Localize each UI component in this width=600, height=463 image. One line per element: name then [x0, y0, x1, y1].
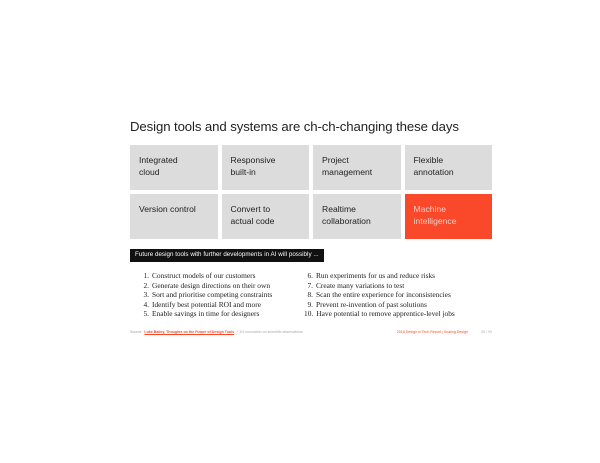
list-item-number: 7.	[304, 281, 313, 291]
list-item-text: Enable savings in time for designers	[152, 309, 259, 319]
card-line-2: actual code	[231, 216, 301, 228]
list-item-text: Run experiments for us and reduce risks	[316, 271, 435, 281]
card-line-1: Machine	[414, 204, 484, 216]
list-item: 6. Run experiments for us and reduce ris…	[304, 271, 492, 281]
slide-footer: Source: Luke Bailey, Thoughts on the Fut…	[130, 330, 492, 335]
capability-card[interactable]: Realtime collaboration	[313, 194, 401, 239]
list-item-number: 9.	[304, 300, 313, 310]
capability-card[interactable]: Convert to actual code	[222, 194, 310, 239]
source-label: Source:	[130, 330, 142, 335]
list-item-text: Have potential to remove apprentice-leve…	[316, 309, 455, 319]
list-item: 9. Prevent re-invention of past solution…	[304, 300, 492, 310]
card-line-1: Convert to	[231, 204, 301, 216]
card-line-2: annotation	[414, 167, 484, 179]
list-item-text: Identify best potential ROI and more	[152, 300, 261, 310]
source-note: + 3/4 innovation on scientific observati…	[236, 330, 303, 335]
list-item: 7. Create many variations to test	[304, 281, 492, 291]
list-item: 1. Construct models of our customers	[140, 271, 302, 281]
card-line-2: built-in	[231, 167, 301, 179]
list-item-text: Scan the entire experience for inconsist…	[316, 290, 451, 300]
card-line-1: Flexible	[414, 155, 484, 167]
predictions-lists: 1. Construct models of our customers 2. …	[130, 271, 492, 319]
deck-name: 2018 Design in Tech Report | Scaling Des…	[397, 330, 468, 335]
card-line-1: Project	[322, 155, 392, 167]
list-item: 8. Scan the entire experience for incons…	[304, 290, 492, 300]
capability-card[interactable]: Version control	[130, 194, 218, 239]
section-banner: Future design tools with further develop…	[130, 249, 324, 262]
card-line-2: collaboration	[322, 216, 392, 228]
list-item-text: Sort and prioritise competing constraint…	[152, 290, 272, 300]
predictions-list-left: 1. Construct models of our customers 2. …	[130, 271, 302, 319]
list-item: 3. Sort and prioritise competing constra…	[140, 290, 302, 300]
list-item-number: 8.	[304, 290, 313, 300]
page-title: Design tools and systems are ch-ch-chang…	[130, 118, 492, 135]
card-line-2: intelligence	[414, 216, 484, 228]
capability-card[interactable]: Integrated cloud	[130, 145, 218, 190]
card-line-2: management	[322, 167, 392, 179]
list-item-number: 3.	[140, 290, 149, 300]
card-line-1: Responsive	[231, 155, 301, 167]
list-item-text: Generate design directions on their own	[152, 281, 270, 291]
capability-card[interactable]: Flexible annotation	[405, 145, 493, 190]
list-item: 4. Identify best potential ROI and more	[140, 300, 302, 310]
list-item-number: 1.	[140, 271, 149, 281]
source-link[interactable]: Luke Bailey, Thoughts on the Future of D…	[144, 330, 234, 335]
list-item-number: 6.	[304, 271, 313, 281]
list-item-number: 10.	[304, 309, 313, 319]
predictions-list-right: 6. Run experiments for us and reduce ris…	[302, 271, 492, 319]
card-line-1: Integrated	[139, 155, 209, 167]
list-item: 10. Have potential to remove apprentice-…	[304, 309, 492, 319]
slide-canvas: Design tools and systems are ch-ch-chang…	[0, 0, 600, 463]
capability-card[interactable]: Responsive built-in	[222, 145, 310, 190]
list-item-number: 4.	[140, 300, 149, 310]
list-item-text: Construct models of our customers	[152, 271, 255, 281]
list-item-number: 5.	[140, 309, 149, 319]
card-line-1: Realtime	[322, 204, 392, 216]
footer-source: Source: Luke Bailey, Thoughts on the Fut…	[130, 330, 303, 335]
list-item-number: 2.	[140, 281, 149, 291]
capability-card-highlighted[interactable]: Machine intelligence	[405, 194, 493, 239]
card-line-1: Version control	[139, 204, 209, 216]
list-item: 2. Generate design directions on their o…	[140, 281, 302, 291]
list-item-text: Prevent re-invention of past solutions	[316, 300, 427, 310]
footer-meta: 2018 Design in Tech Report | Scaling Des…	[397, 330, 492, 335]
card-line-2: cloud	[139, 167, 209, 179]
slide-content: Design tools and systems are ch-ch-chang…	[130, 118, 492, 335]
capability-card[interactable]: Project management	[313, 145, 401, 190]
capability-card-grid: Integrated cloud Responsive built-in Pro…	[130, 145, 492, 239]
list-item: 5. Enable savings in time for designers	[140, 309, 302, 319]
page-number: 35 / 99	[481, 330, 492, 335]
list-item-text: Create many variations to test	[316, 281, 404, 291]
